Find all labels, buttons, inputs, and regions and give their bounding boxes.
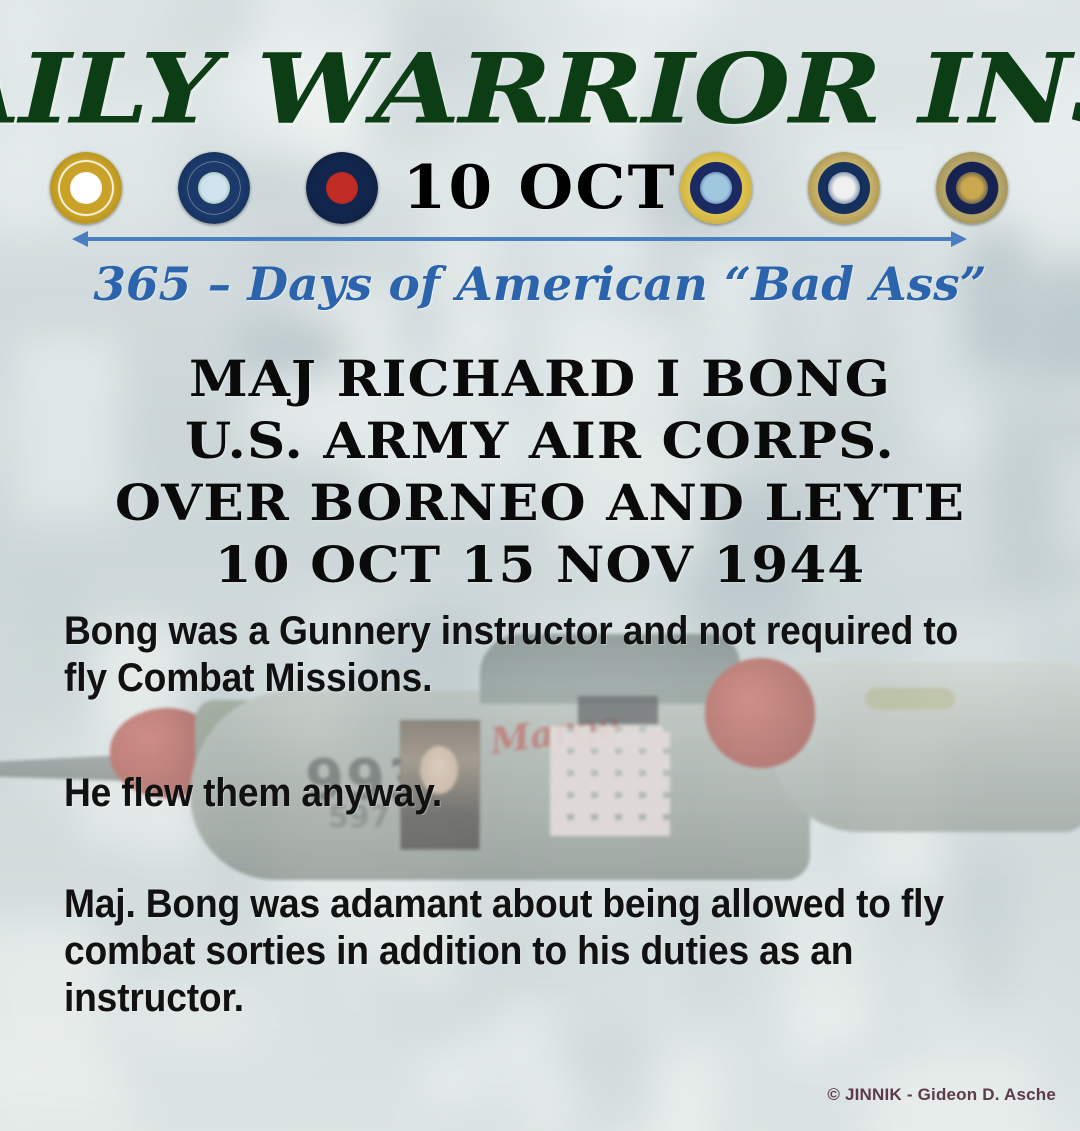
subject-heading-block: MAJ RICHARD I BONG U.S. ARMY AIR CORPS. …	[0, 348, 1080, 596]
poster-canvas: 993 597 Marge DAILY WARRIOR INSPIRATION	[0, 0, 1080, 1131]
arrow-right-head-icon	[951, 231, 967, 247]
body-paragraph-1: Bong was a Gunnery instructor and not re…	[64, 608, 975, 702]
heading-line-branch: U.S. ARMY AIR CORPS.	[0, 410, 1080, 472]
arrow-bar	[86, 237, 953, 241]
subtitle: 365 – Days of American “Bad Ass”	[0, 256, 1080, 312]
body-copy: Bong was a Gunnery instructor and not re…	[64, 608, 1044, 1022]
page-title: DAILY WARRIOR INSPIRATION	[0, 42, 1080, 138]
body-paragraph-2: He flew them anyway.	[64, 770, 975, 817]
date-text: 10 OCT	[403, 158, 677, 218]
heading-line-place: OVER BORNEO AND LEYTE	[0, 472, 1080, 534]
date-banner: 10 OCT	[0, 158, 1080, 218]
copyright-credit: © JINNIK - Gideon D. Asche	[827, 1085, 1056, 1105]
divider-double-arrow	[72, 231, 967, 247]
body-paragraph-3: Maj. Bong was adamant about being allowe…	[64, 881, 975, 1022]
heading-line-name: MAJ RICHARD I BONG	[0, 348, 1080, 410]
heading-line-dates: 10 OCT 15 NOV 1944	[0, 534, 1080, 596]
